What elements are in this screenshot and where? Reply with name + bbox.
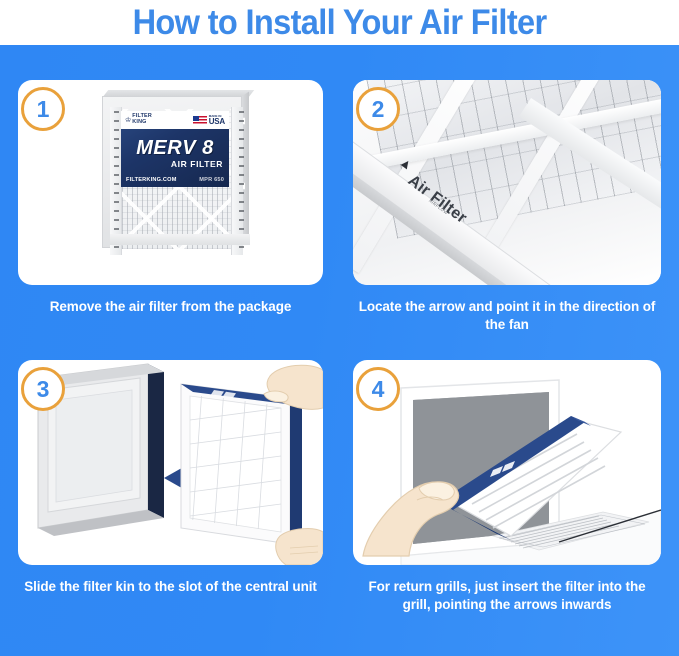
hand-bottom (276, 529, 323, 565)
made-in-usa-text: MADE IN USA (209, 115, 225, 126)
step-caption-2: Locate the arrow and point it in the dir… (353, 298, 661, 334)
step-badge-3: 3 (21, 367, 65, 411)
step-caption-4: For return grills, just insert the filte… (353, 578, 661, 614)
usa-flag-icon (193, 116, 207, 125)
step-badge-1: 1 (21, 87, 65, 131)
step-badge-2: 2 (356, 87, 400, 131)
filter-panel (181, 384, 302, 552)
filter-notches-right (239, 111, 244, 251)
product-subtitle: AIR FILTER (121, 159, 223, 169)
product-website: FILTERKING.COM (126, 177, 177, 183)
filter-frame-bottom (110, 234, 250, 245)
country-label: USA (209, 118, 225, 126)
crown-icon: ♔ (125, 117, 131, 124)
filter-king-logo: ♔ FILTER KING (125, 114, 152, 125)
product-rating: MPR 650 (199, 177, 224, 183)
merv-8-air-filter-package-photo: ♔ FILTER KING MADE IN USA (96, 88, 248, 253)
brand-name: FILTER KING (132, 114, 152, 125)
made-in-usa-block: MADE IN USA (193, 115, 225, 126)
step-badge-4: 4 (356, 367, 400, 411)
step-caption-1: Remove the air filter from the package (18, 298, 323, 316)
page-title: How to Install Your Air Filter (133, 5, 547, 40)
infographic-page: How to Install Your Air Filter ♔ (0, 0, 679, 656)
brand-line-2: KING (132, 119, 146, 125)
filter-notches-left (114, 111, 119, 251)
product-model: MERV 8 (121, 137, 229, 160)
product-label: ♔ FILTER KING MADE IN USA (121, 111, 229, 187)
product-label-footer: FILTERKING.COM MPR 650 (121, 177, 229, 183)
product-label-header: ♔ FILTER KING MADE IN USA (121, 111, 229, 129)
filter-front-face: ♔ FILTER KING MADE IN USA (102, 96, 242, 248)
step-caption-3: Slide the filter kin to the slot of the … (18, 578, 323, 596)
header-band: How to Install Your Air Filter (0, 0, 679, 45)
